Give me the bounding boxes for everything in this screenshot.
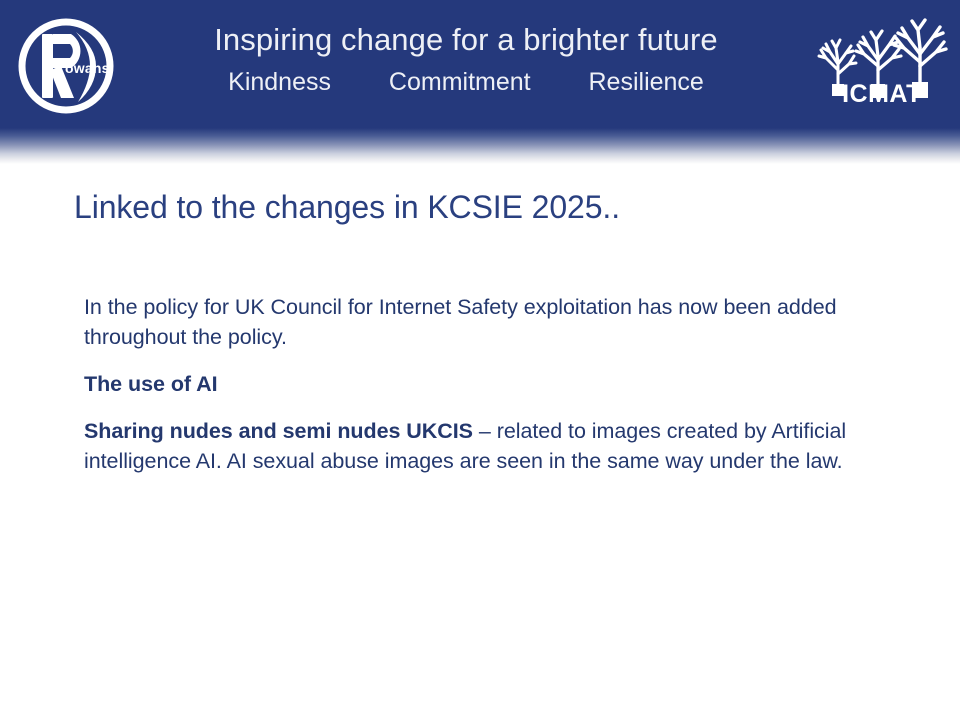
body-paragraph-3: Sharing nudes and semi nudes UKCIS – rel…	[84, 416, 874, 476]
header-value-commitment: Commitment	[389, 67, 531, 98]
body-heading-ai: The use of AI	[84, 369, 874, 399]
slide-canvas: owans Inspiring change for a brighter fu…	[0, 0, 960, 720]
body-paragraph-3-bold-lead: Sharing nudes and semi nudes UKCIS	[84, 419, 473, 443]
page-title: Linked to the changes in KCSIE 2025..	[74, 186, 894, 228]
body-paragraph-1: In the policy for UK Council for Interne…	[84, 292, 874, 352]
slide-body: In the policy for UK Council for Interne…	[84, 292, 874, 476]
header-text-group: Inspiring change for a brighter future K…	[116, 20, 816, 98]
header-value-kindness: Kindness	[228, 67, 331, 98]
svg-text:owans: owans	[65, 60, 110, 76]
header-value-resilience: Resilience	[589, 67, 704, 98]
rowans-logo: owans	[18, 16, 114, 116]
icmat-wordmark: ICMAT	[842, 80, 922, 108]
header-gradient-fade	[0, 128, 960, 164]
icmat-logo: ICMAT	[816, 14, 948, 118]
header-values: Kindness Commitment Resilience	[116, 67, 816, 98]
header-tagline: Inspiring change for a brighter future	[116, 20, 816, 60]
